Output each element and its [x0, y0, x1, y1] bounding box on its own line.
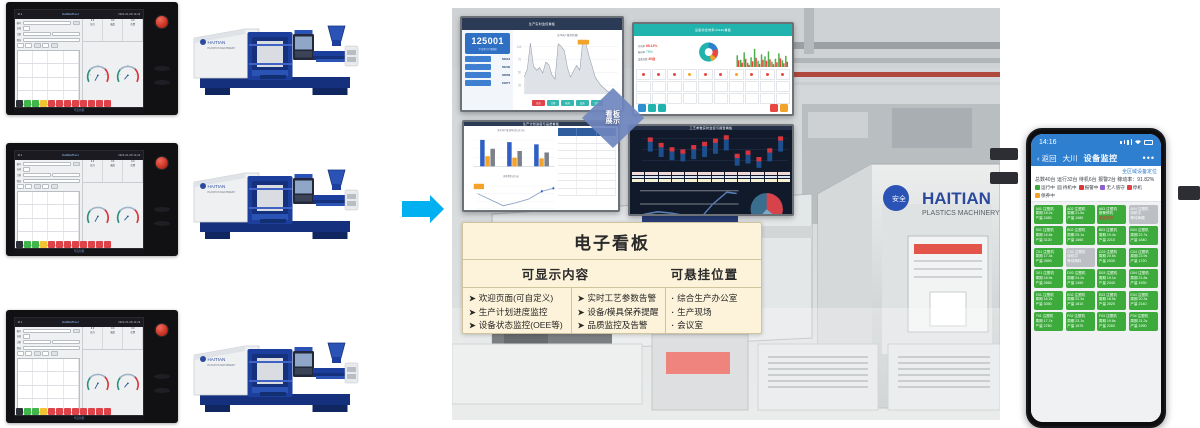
device-card[interactable]: D04 注塑机周期 21.8s产量 1930 [1129, 269, 1158, 288]
legend-label: 运行中 [1041, 185, 1055, 191]
arrow-marker-icon: ➤ [578, 294, 585, 303]
hmi-topbar-right: 2024-01-08 14:22 [118, 13, 140, 16]
hmi-status-lights [14, 241, 145, 248]
table-row [636, 93, 790, 104]
phone-summary-bar: 全区域设备定位 总数40台 运行32台 待机6台 报警2台 稼动率：91.82%… [1031, 166, 1161, 202]
status-time: 14:16 [1039, 139, 1057, 146]
table-row [558, 181, 616, 189]
arrow-marker-icon: ➤ [469, 321, 476, 330]
arrow-marker-icon: ➤ [578, 308, 585, 317]
device-card-line: 产量 1810 [1067, 302, 1093, 306]
svg-text:PLASTICS MACHINERY: PLASTICS MACHINERY [208, 47, 236, 50]
device-card[interactable]: A03 注塑机报警停机温度异常 [1097, 205, 1126, 224]
machine-status-table [636, 69, 790, 103]
device-card-line: C03 注塑机 [1099, 250, 1125, 254]
device-card[interactable]: E01 注塑机周期 16.2s产量 3050 [1034, 291, 1063, 310]
hmi-label: 保压 [17, 179, 21, 183]
phone-shelf-bar [1178, 186, 1200, 200]
hmi-param-form: 模号 自动 注射 保压 [15, 160, 83, 249]
device-card[interactable]: F04 注塑机周期 21.2s产量 1990 [1129, 312, 1158, 331]
legend-item: 停机 [1127, 185, 1142, 191]
kpi-value: 75% [646, 50, 653, 54]
hmi-readout-row: 0.0压力 0.0速度 0.0位置 [83, 160, 143, 183]
device-card-line: 周期 18.9s [1036, 276, 1062, 280]
factory-collage: 安全 HAITIAN PLASTICS MACHINERY Pruta S3 [452, 8, 1000, 420]
svg-text:HAITIAN: HAITIAN [208, 184, 226, 189]
utilization-bar-chart [735, 38, 790, 68]
hmi-field[interactable] [42, 184, 49, 189]
list-item: ·生产现场 [672, 306, 756, 318]
table-row [632, 176, 790, 178]
table-row [18, 205, 79, 218]
hmi-field[interactable] [34, 43, 41, 48]
device-card-grid: A01 注塑机周期 18.2s产量 2450A02 注塑机周期 21.5s产量 … [1031, 202, 1161, 423]
hmi-side-controls [150, 9, 174, 108]
list-item-label: 设备/模具保养提醒 [587, 306, 658, 318]
panel-top-row: 开机率 88.13% 稼动率 75% 设备总数 40台 [636, 38, 790, 68]
device-card[interactable]: F01 注塑机周期 17.7s产量 2780 [1034, 312, 1063, 331]
kpi-column: 125001 今日累计产量(模) 计划产量 52912 实际产量 56230 达… [462, 30, 513, 110]
kanban-column-2: ➤实时工艺参数告警 ➤设备/模具保养提醒 ➤品质监控及告警 ➤加料提醒 [572, 288, 666, 334]
device-card-line: E04 注塑机 [1130, 293, 1156, 297]
device-card[interactable]: C04 注塑机周期 23.9s产量 1720 [1129, 248, 1158, 267]
svg-text:HAITIAN: HAITIAN [208, 40, 226, 45]
device-card-line: 周期 17.3s [1036, 254, 1062, 258]
hmi-data-table [17, 50, 80, 105]
hmi-label: 自动 [17, 167, 21, 171]
hmi-topbar-right: 2024-01-08 14:22 [118, 321, 140, 324]
legend-label: 停机 [1133, 185, 1142, 191]
panel-footer-icons[interactable] [636, 104, 790, 112]
hmi-param-form: 模号 自动 注射 保压 [15, 327, 83, 416]
device-card-line: 温度异常 [1099, 216, 1125, 220]
device-card-line: 等待物料 [1067, 259, 1093, 263]
panel-header: 设备综合效率(OEE)看板 [634, 24, 792, 36]
device-card-line: 等待换模 [1130, 216, 1156, 220]
device-card-line: 周期 19.1s [1099, 276, 1125, 280]
hmi-field[interactable] [42, 43, 49, 48]
flow-arrow-icon [400, 193, 446, 225]
svg-text:安全: 安全 [892, 194, 906, 203]
device-card-line: 周期 23.9s [1130, 254, 1156, 258]
kpi-label: 稼动率 [638, 51, 645, 54]
device-card[interactable]: D03 注塑机周期 19.1s产量 2340 [1097, 269, 1126, 288]
device-card-line: 周期 23.1s [1067, 319, 1093, 323]
grid-icon[interactable] [648, 104, 656, 112]
device-card[interactable]: B03 注塑机周期 19.4s产量 2210 [1097, 226, 1126, 245]
list-item: ➤生产计划进度监控 [469, 306, 565, 318]
device-card-line: 周期 17.7s [1036, 319, 1062, 323]
device-card-line: B04 注塑机 [1130, 228, 1156, 232]
list-item-label: 综合生产办公室 [677, 292, 737, 304]
device-card-line: 周期 19.8s [1099, 319, 1125, 323]
hmi-data-table [17, 358, 80, 413]
list-item: ·会议室 [672, 319, 756, 331]
device-card-line: E03 注塑机 [1099, 293, 1125, 297]
list-item: ·综合生产办公室 [672, 292, 756, 304]
hmi-status-lights [14, 100, 145, 107]
hmi-label: 模号 [17, 162, 21, 166]
kpi-value: 40台 [648, 57, 655, 61]
arrow-marker-icon: ➤ [469, 308, 476, 317]
hmi-field[interactable] [17, 351, 24, 356]
hmi-topbar-left: M-1 [18, 321, 23, 324]
hmi-field[interactable] [23, 329, 72, 334]
hmi-gauge-area: 0.0压力 0.0速度 0.0位置 [83, 19, 143, 108]
hmi-label: 保压 [17, 38, 21, 42]
device-card[interactable]: E04 注塑机周期 20.3s产量 2140 [1129, 291, 1158, 310]
hmi-field[interactable] [23, 32, 51, 37]
hmi-field[interactable] [23, 26, 30, 31]
kanban-column-1: ➤欢迎页面(可自定义) ➤生产计划进度监控 ➤设备状态监控(OEE等) ➤设备实… [463, 288, 572, 334]
alarm-table [632, 172, 790, 181]
injection-molding-machine-3: HAITIAN PLASTICS MACHINERY [185, 325, 360, 420]
device-card[interactable]: A02 注塑机周期 21.5s产量 1980 [1066, 205, 1095, 224]
svg-text:PLASTICS MACHINERY: PLASTICS MACHINERY [922, 210, 1000, 217]
hmi-gauges [83, 350, 143, 416]
kpi-bar-value: 56230 [493, 65, 510, 69]
device-card-line: 产量 3050 [1036, 302, 1062, 306]
list-item: ➤设备状态监控(OEE等) [469, 319, 565, 331]
device-card-line: 产量 2450 [1036, 216, 1062, 220]
location-link[interactable]: 全区域设备定位 [1035, 168, 1157, 175]
kpi-main: 125001 今日累计产量(模) [465, 33, 510, 54]
kpi-bar-label: 实际产量 [467, 62, 475, 65]
filter-button[interactable]: 注塑 [547, 100, 560, 106]
hmi-field[interactable] [23, 21, 72, 26]
hmi-body: 模号 自动 注射 保压 [15, 19, 144, 108]
hmi-field[interactable] [73, 329, 80, 334]
device-card-line: 待机中 [1067, 254, 1093, 258]
hmi-field[interactable] [23, 346, 80, 351]
hmi-field[interactable] [52, 173, 80, 178]
table-row [558, 189, 616, 197]
device-card[interactable]: B04 注塑机周期 22.7s产量 1840 [1129, 226, 1158, 245]
svg-text:25: 25 [518, 83, 521, 88]
hmi-side-controls [150, 150, 174, 249]
device-card-line: B02 注塑机 [1067, 228, 1093, 232]
emergency-stop-icon[interactable] [154, 323, 168, 337]
hmi-field[interactable] [17, 184, 24, 189]
list-item: ➤欢迎页面(可自定义) [469, 292, 565, 304]
kanban-info-card: 电子看板 可显示内容 可悬挂位置 ➤欢迎页面(可自定义) ➤生产计划进度监控 ➤… [462, 222, 762, 334]
account-label: 大川 [1063, 153, 1078, 164]
list-item-label: 品质监控及告警 [587, 319, 647, 331]
legend-label: 保养中 [1041, 193, 1055, 199]
speaker-icon [154, 388, 170, 393]
kpi-bar-value: 52912 [493, 57, 510, 61]
device-card-line: A04 注塑机 [1130, 207, 1156, 211]
list-item: ·仓库或其他区域 [672, 333, 756, 335]
device-card-line: 周期 22.4s [1067, 297, 1093, 301]
hmi-field[interactable] [23, 334, 30, 339]
emergency-stop-icon[interactable] [154, 15, 168, 29]
dot-marker-icon: · [672, 308, 675, 317]
arrow-marker-icon: ➤ [469, 294, 476, 303]
hmi-label: 自动 [17, 334, 21, 338]
legend-item: 运行中 [1035, 185, 1055, 191]
hmi-label: 注射 [17, 32, 21, 36]
battery-icon [1144, 140, 1153, 145]
phone-screen: 14:16 ‹ 返回 大川 设备监控 ••• 全区域设备定位 总数40台 运行3… [1031, 134, 1161, 422]
device-card-line: B01 注塑机 [1036, 228, 1062, 232]
hmi-field[interactable] [73, 162, 80, 167]
hmi-panel-3: M-1 HaiMaiPlast 2024-01-08 14:22 模号 自动 注… [6, 310, 178, 423]
hmi-field[interactable] [23, 340, 51, 345]
speaker-icon [154, 221, 170, 226]
device-card[interactable]: E02 注塑机周期 22.4s产量 1810 [1066, 291, 1095, 310]
hmi-field[interactable] [23, 167, 30, 172]
kanban-subheader-content: 可显示内容 [463, 260, 648, 287]
device-card-line: 产量 2210 [1099, 238, 1125, 242]
svg-text:HAITIAN: HAITIAN [208, 357, 226, 362]
hmi-label: 模号 [17, 21, 21, 25]
gear-icon[interactable] [780, 104, 788, 112]
hmi-field[interactable] [17, 43, 24, 48]
alarm-trend-chart [632, 183, 741, 216]
table-row [18, 372, 79, 385]
device-card-line: 产量 1930 [1130, 281, 1156, 285]
hmi-label: 注射 [17, 340, 21, 344]
device-card-line: 周期 18.2s [1036, 211, 1062, 215]
hmi-field[interactable] [23, 162, 72, 167]
device-card-line: 产量 2140 [1130, 302, 1156, 306]
table-row [558, 151, 616, 159]
temperature-range-chart [632, 132, 790, 171]
kpi-caption: 今日累计产量(模) [467, 47, 508, 51]
table-row [636, 69, 790, 80]
panel-body: 开机率 88.13% 稼动率 75% 设备总数 40台 [634, 36, 792, 114]
legend-item: 待机中 [1057, 185, 1077, 191]
kpi-bar-label: 计划产量 [467, 54, 475, 57]
kpi-label: 设备总数 [638, 58, 648, 61]
hmi-field[interactable] [23, 38, 80, 43]
hmi-field[interactable] [34, 351, 41, 356]
kanban-columns: ➤欢迎页面(可自定义) ➤生产计划进度监控 ➤设备状态监控(OEE等) ➤设备实… [463, 288, 761, 334]
charts-column: 各车间产量/良率对比(近7天) [466, 128, 556, 212]
hmi-field[interactable] [52, 340, 80, 345]
table-row [636, 81, 790, 92]
badge-line-2: 展示 [606, 118, 621, 125]
hmi-field[interactable] [25, 184, 32, 189]
svg-text:75: 75 [518, 57, 521, 62]
list-item-label: 仓库或其他区域 [677, 333, 737, 335]
hmi-label: 模号 [17, 329, 21, 333]
device-card[interactable]: F03 注塑机周期 19.8s产量 2260 [1097, 312, 1126, 331]
status-pie-chart [684, 38, 733, 68]
workshop-bar-chart [466, 134, 556, 172]
back-button[interactable]: ‹ 返回 [1037, 153, 1057, 164]
list-item-label: 会议室 [677, 319, 703, 331]
svg-text:HAITIAN: HAITIAN [922, 189, 991, 208]
hmi-topbar: M-1 HaiMaiPlast 2024-01-08 14:22 [15, 10, 144, 19]
hmi-data-table [17, 191, 80, 246]
hmi-field[interactable] [25, 351, 32, 356]
hmi-status-lights [14, 408, 145, 415]
legend-label: 待机中 [1063, 185, 1077, 191]
hmi-field[interactable] [34, 184, 41, 189]
kpi-item: 稼动率 75% [638, 50, 682, 54]
hmi-brand-text: HaiMaiPlast [62, 13, 79, 16]
alarm-icon[interactable] [770, 104, 778, 112]
device-card[interactable]: E03 注塑机周期 18.5s产量 2520 [1097, 291, 1126, 310]
gauge-icon [114, 60, 142, 88]
emergency-stop-icon[interactable] [154, 156, 168, 170]
device-card-line: 产量 2260 [1099, 324, 1125, 328]
svg-text:PLASTICS MACHINERY: PLASTICS MACHINERY [208, 364, 236, 367]
device-card-line: E02 注塑机 [1067, 293, 1093, 297]
hmi-label: 自动 [17, 26, 21, 30]
device-card-line: 周期 19.4s [1099, 233, 1125, 237]
device-card-line: 产量 2780 [1036, 324, 1062, 328]
legend-item: 无人值守 [1100, 185, 1124, 191]
hmi-gauges [83, 42, 143, 108]
hmi-body: 模号 自动 注射 保压 [15, 327, 144, 416]
hmi-topbar-left: M-1 [18, 154, 23, 157]
device-card-line: 待机中 [1130, 211, 1156, 215]
wifi-icon [1134, 139, 1142, 145]
device-card[interactable]: C03 注塑机周期 20.6s产量 2030 [1097, 248, 1126, 267]
hmi-topbar-left: M-1 [18, 13, 23, 16]
phone-status-bar: 14:16 [1031, 134, 1161, 150]
device-card-line: F03 注塑机 [1099, 314, 1125, 318]
hmi-field[interactable] [51, 184, 58, 189]
phone-nav-bar[interactable]: ‹ 返回 大川 设备监控 ••• [1031, 150, 1161, 166]
device-card-line: 周期 18.5s [1099, 297, 1125, 301]
device-card[interactable]: D01 注塑机周期 18.9s产量 2660 [1034, 269, 1063, 288]
hmi-field[interactable] [25, 43, 32, 48]
chart-title: 各车间产量/良率对比(近7天) [466, 128, 556, 132]
device-card-line: D02 注塑机 [1067, 271, 1093, 275]
svg-text:50: 50 [518, 70, 521, 75]
device-card-line: 周期 16.8s [1036, 233, 1062, 237]
device-card-line: 产量 1560 [1067, 238, 1093, 242]
hmi-field[interactable] [52, 32, 80, 37]
filter-button[interactable]: 总览 [532, 100, 545, 106]
hmi-brand-footer: 华迈智能 [14, 249, 145, 255]
panel-body [630, 130, 792, 216]
device-card-line: 产量 1840 [1130, 238, 1156, 242]
svg-text:100: 100 [517, 44, 522, 49]
hmi-field[interactable] [51, 351, 58, 356]
device-card-line: E01 注塑机 [1036, 293, 1062, 297]
device-card-line: 产量 3120 [1036, 238, 1062, 242]
legend-item: 保养中 [1035, 193, 1055, 199]
list-item: ➤设备实时工艺参数监控 [469, 333, 565, 335]
table-row [18, 359, 79, 372]
dot-marker-icon: · [672, 294, 675, 303]
device-card-line: 周期 21.5s [1067, 211, 1093, 215]
kanban-column-3: ·综合生产办公室 ·生产现场 ·会议室 ·仓库或其他区域 [666, 288, 762, 334]
table-row [558, 166, 616, 174]
legend-label: 报警中 [1085, 185, 1099, 191]
hmi-field[interactable] [23, 179, 80, 184]
hmi-field[interactable] [73, 21, 80, 26]
hmi-brand-text: HaiMaiPlast [62, 154, 79, 157]
kpi-bar-row: 不良数 91877 [465, 80, 510, 86]
gauge-icon [84, 60, 112, 88]
hmi-readout-row: 0.0压力 0.0速度 0.0位置 [83, 327, 143, 350]
device-card-line: 产量 1980 [1067, 216, 1093, 220]
device-card-line: 产量 2520 [1099, 302, 1125, 306]
list-item-label: 设备实时工艺参数监控 [479, 333, 565, 335]
badge-line-1: 看板 [606, 111, 621, 118]
table-row [18, 51, 79, 64]
device-card[interactable]: C01 注塑机周期 17.3s产量 2890 [1034, 248, 1063, 267]
hmi-gauge-area: 0.0压力 0.0速度 0.0位置 [83, 160, 143, 249]
table-row [18, 78, 79, 91]
hmi-topbar: M-1 HaiMaiPlast 2024-01-08 14:22 [15, 151, 144, 160]
more-options-icon[interactable]: ••• [1143, 153, 1155, 163]
device-card[interactable]: D02 注塑机周期 24.2s产量 1490 [1066, 269, 1095, 288]
list-item: ➤设备/模具保养提醒 [578, 306, 659, 318]
device-card[interactable]: A01 注塑机周期 18.2s产量 2450 [1034, 205, 1063, 224]
device-card-line: 周期 22.7s [1130, 233, 1156, 237]
device-card-line: 周期 16.2s [1036, 297, 1062, 301]
kpi-bar-value: 91877 [493, 81, 510, 85]
gauge-icon [114, 201, 142, 229]
list-item: ➤品质监控及告警 [578, 319, 659, 331]
device-card-line: C01 注塑机 [1036, 250, 1062, 254]
hmi-brand-text: HaiMaiPlast [62, 321, 79, 324]
kanban-title: 电子看板 [463, 223, 761, 260]
hmi-topbar-right: 2024-01-08 14:22 [118, 154, 140, 157]
kanban-subheaders: 可显示内容 可悬挂位置 [463, 260, 761, 288]
kpi-label: 开机率 [638, 45, 645, 48]
dashboard-panel-oee[interactable]: 设备综合效率(OEE)看板 开机率 88.13% 稼动率 75% 设备总数 [632, 22, 794, 116]
list-item-label: 加料提醒 [587, 333, 621, 335]
device-card[interactable]: B02 注塑机周期 25.1s产量 1560 [1066, 226, 1095, 245]
table-row [18, 64, 79, 77]
hmi-field[interactable] [42, 351, 49, 356]
list-item-label: 欢迎页面(可自定义) [479, 292, 553, 304]
diagram-canvas: M-1 HaiMaiPlast 2024-01-08 14:22 模号 自动 注… [0, 0, 1200, 428]
hmi-field[interactable] [23, 173, 51, 178]
gauge-icon [84, 201, 112, 229]
hmi-gauges [83, 183, 143, 249]
device-card-line: F01 注塑机 [1036, 314, 1062, 318]
hmi-field[interactable] [51, 43, 58, 48]
mobile-device: 14:16 ‹ 返回 大川 设备监控 ••• 全区域设备定位 总数40台 运行3… [1026, 128, 1166, 428]
device-card-line: 产量 1990 [1130, 324, 1156, 328]
list-icon[interactable] [658, 104, 666, 112]
device-card[interactable]: F02 注塑机周期 23.1s产量 1670 [1066, 312, 1095, 331]
kanban-display-badge: 看板 展示 [580, 86, 646, 150]
legend-label: 无人值守 [1106, 185, 1124, 191]
hmi-screen: M-1 HaiMaiPlast 2024-01-08 14:22 模号 自动 注… [14, 150, 145, 249]
device-card-line: 产量 1490 [1067, 281, 1093, 285]
device-card[interactable]: C02 注塑机待机中等待物料 [1066, 248, 1095, 267]
hmi-param-form: 模号 自动 注射 保压 [15, 19, 83, 108]
arrow-marker-icon: ➤ [578, 321, 585, 330]
filter-button[interactable]: 模具 [561, 100, 574, 106]
table-row [18, 386, 79, 399]
phone-shelf-bar [990, 148, 1018, 160]
chart-title: 良率趋势(近7天) [466, 174, 556, 178]
hmi-gauge-area: 0.0压力 0.0速度 0.0位置 [83, 327, 143, 416]
list-item: ➤加料提醒 [578, 333, 659, 335]
dot-marker-icon: · [672, 321, 675, 330]
device-card-line: 产量 2660 [1036, 281, 1062, 285]
device-card[interactable]: A04 注塑机待机中等待换模 [1129, 205, 1158, 224]
device-card[interactable]: B01 注塑机周期 16.8s产量 3120 [1034, 226, 1063, 245]
injection-molding-machine-2: HAITIAN PLASTICS MACHINERY [185, 152, 360, 247]
status-icons [1120, 139, 1153, 145]
device-card-line: D03 注塑机 [1099, 271, 1125, 275]
table-row [558, 174, 616, 182]
dashboard-panel-process[interactable]: 工艺参数实时监控与报警看板 [628, 124, 794, 216]
hmi-label: 注射 [17, 173, 21, 177]
